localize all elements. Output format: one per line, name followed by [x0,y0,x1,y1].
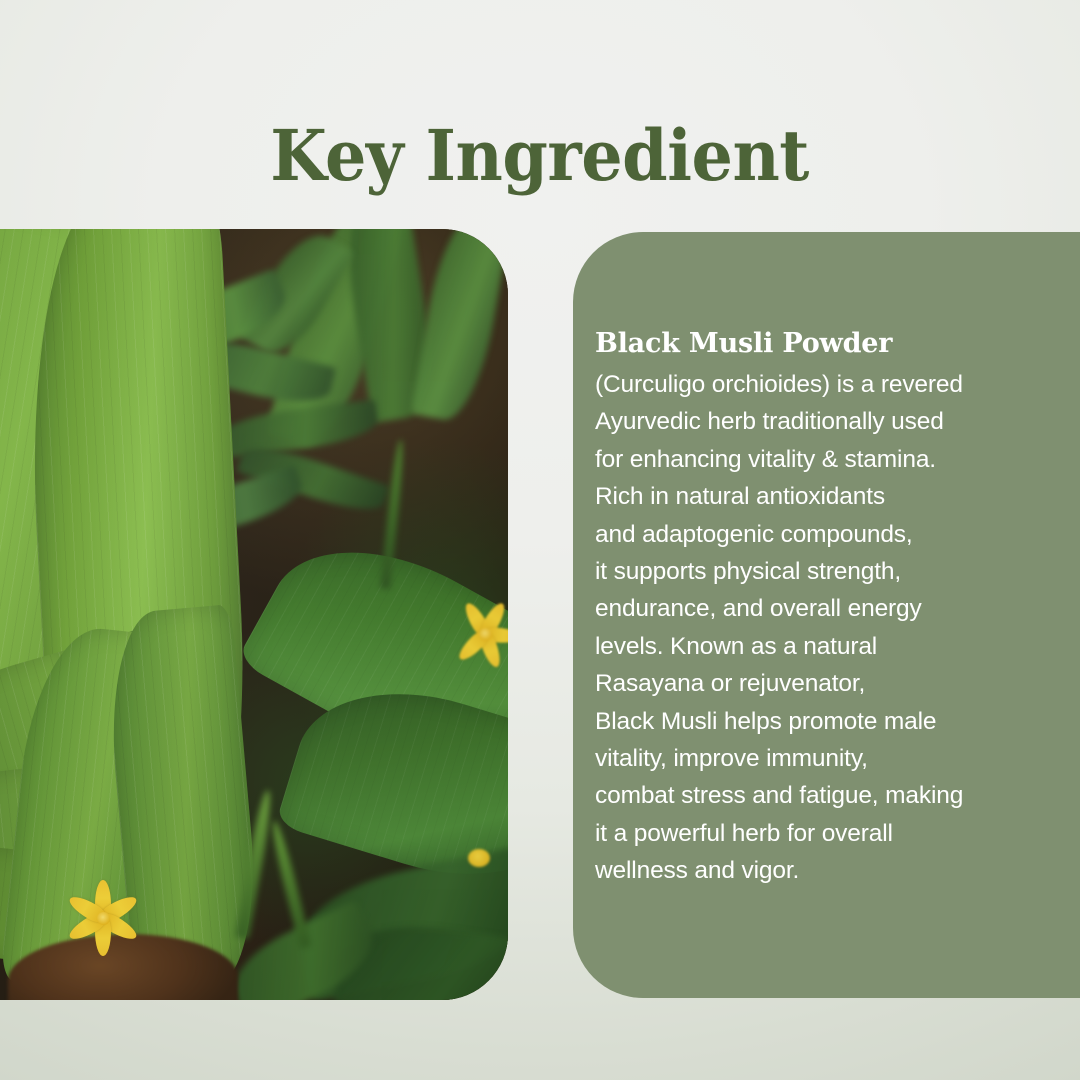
info-card-content: Black Musli Powder (Curculigo orchioides… [595,330,1075,890]
plant-photo-canvas [0,229,508,1000]
flower-center [97,912,110,925]
black-musli-plant-photo [0,229,508,1000]
ingredient-poster: Key Ingredient [0,0,1080,1080]
flower-center [479,628,492,641]
page-title: Key Ingredient [271,121,810,191]
ingredient-name-heading: Black Musli Powder [595,330,1075,357]
flower-bud [468,849,490,867]
ingredient-description: (Curculigo orchioides) is a revered Ayur… [595,366,1075,890]
page-title-container: Key Ingredient [0,74,1080,238]
ingredient-info-card: Black Musli Powder (Curculigo orchioides… [573,232,1080,998]
